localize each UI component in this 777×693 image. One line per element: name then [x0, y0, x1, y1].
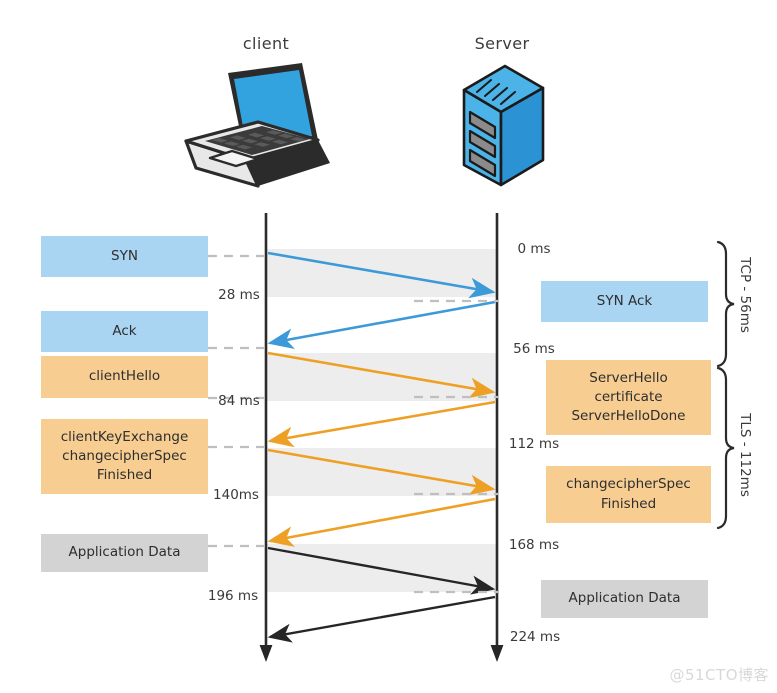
time-label-196ms: 196 ms	[200, 588, 266, 608]
endpoint-label-server: Server	[452, 31, 552, 55]
message-line: Application Data	[569, 589, 681, 608]
watermark: @51CTO博客	[669, 664, 769, 685]
message-box-syn[interactable]: SYN	[41, 236, 208, 277]
message-box-ack[interactable]: Ack	[41, 311, 208, 352]
time-label-168ms: 168 ms	[499, 537, 569, 557]
laptop-icon	[186, 63, 330, 186]
message-line: Finished	[97, 466, 152, 485]
time-label-112ms: 112 ms	[499, 436, 569, 456]
message-line: SYN Ack	[597, 292, 652, 311]
time-label-56ms: 56 ms	[499, 341, 569, 361]
message-box-syn-ack[interactable]: SYN Ack	[541, 281, 708, 322]
message-line: clientHello	[89, 367, 160, 386]
message-arrow-server-application-data	[270, 597, 495, 637]
message-box-server-application-data[interactable]: Application Data	[541, 580, 708, 618]
message-line: Ack	[112, 322, 136, 341]
message-line: changecipherSpec	[62, 447, 187, 466]
server-tower-icon	[464, 66, 543, 185]
message-line: ServerHelloDone	[571, 407, 685, 426]
endpoint-label-client: client	[216, 31, 316, 55]
bracket-label-tcp: TCP - 56ms	[737, 257, 753, 333]
time-label-140ms: 140ms	[204, 487, 268, 507]
bracket-label-tls: TLS - 112ms	[737, 413, 753, 497]
message-line: Application Data	[69, 543, 181, 562]
message-arrow-server-hello	[270, 402, 495, 441]
message-line: clientKeyExchange	[61, 428, 189, 447]
time-label-28ms: 28 ms	[209, 287, 269, 307]
message-box-server-hello[interactable]: ServerHello certificate ServerHelloDone	[546, 360, 711, 435]
message-line: ServerHello	[589, 369, 668, 388]
bracket-label-tls-wrap: TLS - 112ms	[705, 415, 777, 495]
message-box-server-change-cipher[interactable]: changecipherSpec Finished	[546, 466, 711, 523]
message-line: Finished	[601, 495, 656, 514]
sequence-diagram: client Server SYN Ack clientHello client…	[0, 0, 777, 693]
time-label-224ms: 224 ms	[500, 629, 570, 649]
message-box-client-hello[interactable]: clientHello	[41, 356, 208, 398]
message-arrow-syn-ack	[270, 302, 495, 343]
time-label-84ms: 84 ms	[209, 393, 269, 413]
message-arrow-server-change-cipher	[270, 499, 495, 541]
bracket-label-tcp-wrap: TCP - 56ms	[705, 255, 777, 335]
message-line: SYN	[111, 247, 138, 266]
message-box-client-application-data[interactable]: Application Data	[41, 534, 208, 572]
message-box-client-key-exchange[interactable]: clientKeyExchange changecipherSpec Finis…	[41, 419, 208, 494]
time-label-0ms: 0 ms	[499, 241, 569, 261]
message-line: changecipherSpec	[566, 475, 691, 494]
message-line: certificate	[594, 388, 662, 407]
